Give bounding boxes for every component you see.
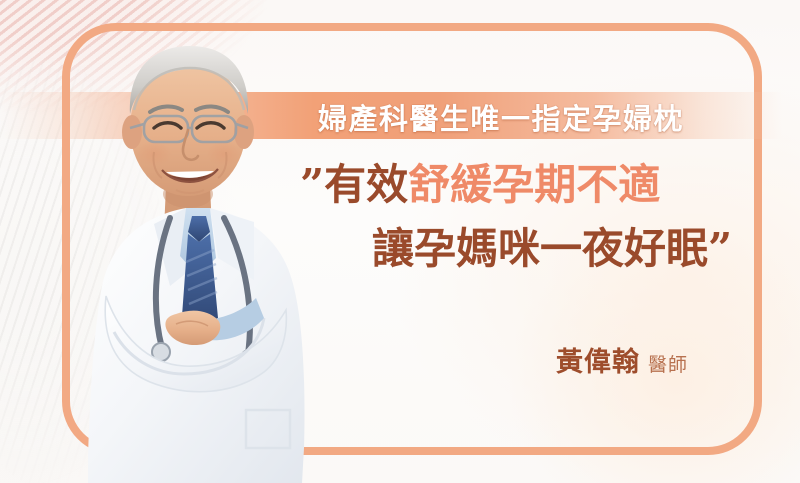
quote-block: ”有效舒緩孕期不適 讓孕媽咪一夜好眠” bbox=[300, 160, 770, 273]
quote-line-1: ”有效舒緩孕期不適 bbox=[300, 160, 770, 210]
doctor-title: 醫師 bbox=[648, 350, 688, 377]
quote-close-mark: ” bbox=[708, 224, 732, 273]
quote-line2-text: 讓孕媽咪一夜好眠 bbox=[372, 224, 708, 273]
quote-line1-highlight: 舒緩孕期不適 bbox=[408, 160, 660, 210]
quote-line1-plain: 有效 bbox=[324, 160, 408, 209]
quote-line-2: 讓孕媽咪一夜好眠” bbox=[300, 224, 770, 274]
headline-text: 婦產科醫生唯一指定孕婦枕 bbox=[318, 96, 684, 138]
quote-open-mark: ” bbox=[300, 160, 324, 209]
doctor-name: 黃偉翰 bbox=[556, 340, 640, 379]
attribution: 黃偉翰 醫師 bbox=[556, 340, 688, 379]
promotional-banner: 婦產科醫生唯一指定孕婦枕 bbox=[0, 0, 800, 483]
